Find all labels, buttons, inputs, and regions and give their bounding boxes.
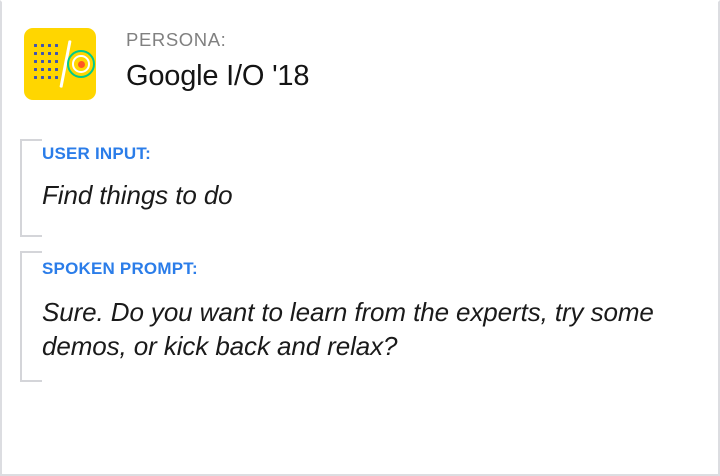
spoken-prompt-body: SPOKEN PROMPT: Sure. Do you want to lear… [20, 251, 700, 364]
user-input-bracket [20, 139, 46, 237]
user-input-label: USER INPUT: [42, 139, 680, 164]
persona-label: PERSONA: [126, 30, 309, 50]
user-input-block: USER INPUT: Find things to do [20, 139, 680, 237]
persona-header: PERSONA: Google I/O '18 [24, 28, 309, 100]
logo-dot-grid-icon [34, 44, 62, 84]
persona-text-group: PERSONA: Google I/O '18 [126, 28, 309, 95]
google-io-logo [24, 28, 96, 100]
user-input-body: USER INPUT: Find things to do [20, 139, 680, 212]
spoken-prompt-block: SPOKEN PROMPT: Sure. Do you want to lear… [20, 251, 700, 382]
spoken-prompt-bracket [20, 251, 46, 382]
spoken-prompt-label: SPOKEN PROMPT: [42, 251, 700, 279]
spoken-prompt-text: Sure. Do you want to learn from the expe… [42, 279, 687, 364]
persona-dialogue-card: PERSONA: Google I/O '18 USER INPUT: Find… [0, 0, 720, 476]
persona-name: Google I/O '18 [126, 58, 309, 94]
logo-target-circle-icon [67, 50, 95, 78]
user-input-text: Find things to do [42, 164, 680, 213]
